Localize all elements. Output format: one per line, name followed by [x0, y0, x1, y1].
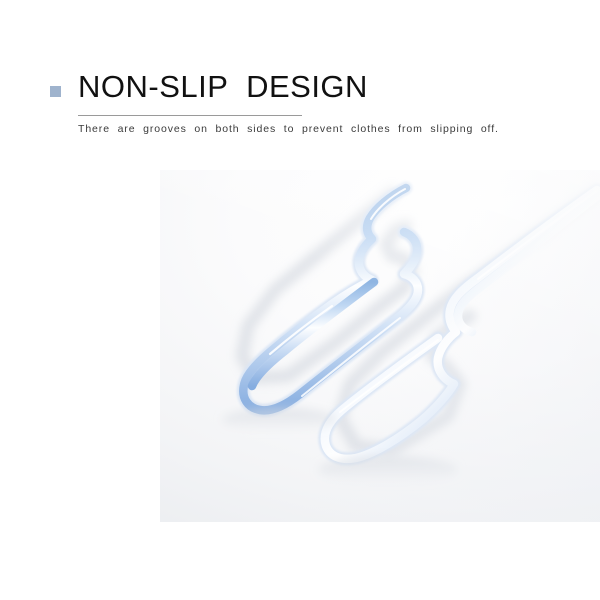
header-section: NON-SLIP DESIGN There are grooves on bot… — [0, 0, 600, 170]
square-bullet-icon — [50, 86, 61, 97]
title-divider — [78, 115, 302, 116]
product-photo — [160, 170, 600, 522]
section-subtitle: There are grooves on both sides to preve… — [78, 122, 558, 137]
page-title: NON-SLIP DESIGN — [78, 70, 368, 104]
product-photo-canvas — [160, 170, 600, 522]
section-title-row: NON-SLIP DESIGN — [50, 70, 368, 104]
product-detail-page: NON-SLIP DESIGN There are grooves on bot… — [0, 0, 600, 600]
hangers-illustration — [160, 170, 600, 522]
